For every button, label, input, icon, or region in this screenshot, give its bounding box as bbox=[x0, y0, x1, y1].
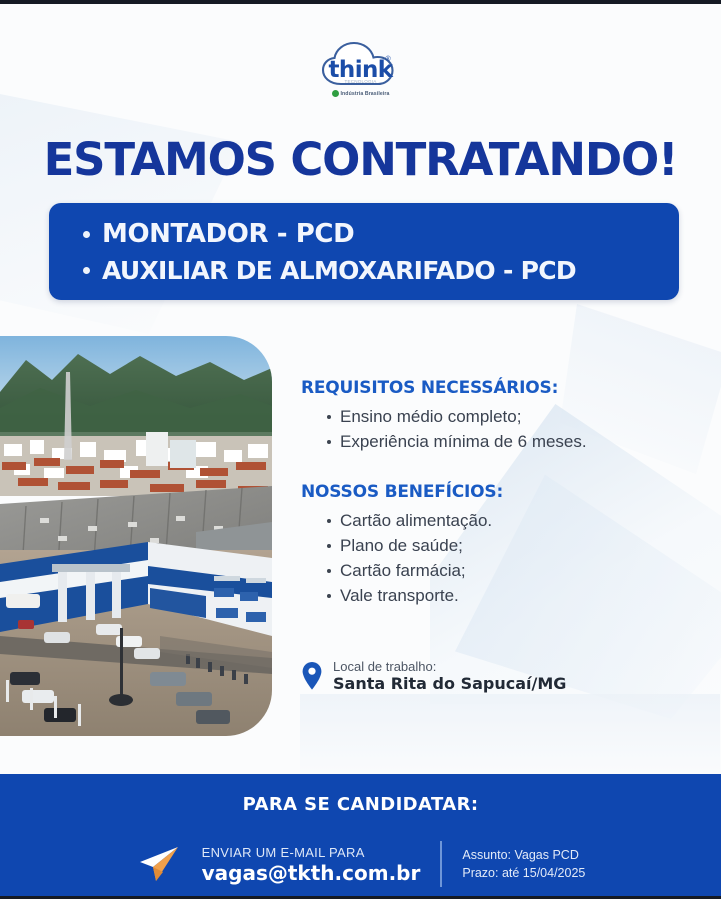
list-item-label: Experiência mínima de 6 meses. bbox=[340, 430, 587, 453]
made-in-brazil-label: Indústria Brasileira bbox=[341, 91, 390, 97]
registered-trademark-icon: ® bbox=[386, 56, 391, 63]
role-label: MONTADOR - PCD bbox=[102, 219, 354, 249]
list-item: Cartão alimentação. bbox=[301, 508, 701, 533]
made-in-brazil-badge: Indústria Brasileira bbox=[313, 90, 409, 97]
factory-aerial-photo bbox=[0, 336, 272, 736]
role-item: AUXILIAR DE ALMOXARIFADO - PCD bbox=[83, 252, 679, 288]
bullet-icon bbox=[327, 544, 331, 548]
bullet-icon bbox=[83, 267, 90, 274]
job-posting-poster: think ® TECNOLOGIA Indústria Brasileira … bbox=[0, 0, 721, 899]
list-item: Plano de saúde; bbox=[301, 533, 701, 558]
bullet-icon bbox=[327, 415, 331, 419]
bullet-icon bbox=[327, 594, 331, 598]
company-logo: think ® TECNOLOGIA Indústria Brasileira bbox=[0, 37, 721, 109]
section-title: NOSSOS BENEFÍCIOS: bbox=[301, 482, 701, 502]
requirements-list: Ensino médio completo; Experiência mínim… bbox=[301, 404, 701, 454]
list-item-label: Plano de saúde; bbox=[340, 534, 463, 557]
map-pin-icon bbox=[301, 661, 323, 691]
background-shape-bottom bbox=[300, 694, 720, 784]
list-item: Cartão farmácia; bbox=[301, 558, 701, 583]
green-circle-icon bbox=[332, 90, 339, 97]
email-address[interactable]: vagas@tkth.com.br bbox=[202, 861, 421, 885]
logo-tagline: TECNOLOGIA bbox=[313, 79, 409, 84]
work-location: Local de trabalho: Santa Rita do Sapucaí… bbox=[301, 659, 566, 693]
role-item: MONTADOR - PCD bbox=[83, 216, 679, 252]
benefits-section: NOSSOS BENEFÍCIOS: Cartão alimentação. P… bbox=[301, 482, 701, 608]
section-title: REQUISITOS NECESSÁRIOS: bbox=[301, 378, 701, 398]
bullet-icon bbox=[327, 519, 331, 523]
details-content: REQUISITOS NECESSÁRIOS: Ensino médio com… bbox=[301, 378, 701, 608]
paper-plane-icon bbox=[136, 843, 182, 885]
footer-divider bbox=[440, 841, 442, 887]
email-label: ENVIAR UM E-MAIL PARA bbox=[202, 844, 421, 861]
application-deadline: Prazo: até 15/04/2025 bbox=[462, 864, 585, 882]
footer-title: PARA SE CANDIDATAR: bbox=[0, 774, 721, 815]
roles-banner: MONTADOR - PCD AUXILIAR DE ALMOXARIFADO … bbox=[49, 203, 679, 300]
benefits-list: Cartão alimentação. Plano de saúde; Cart… bbox=[301, 508, 701, 608]
bullet-icon bbox=[83, 231, 90, 238]
footer-contact-row: ENVIAR UM E-MAIL PARA vagas@tkth.com.br … bbox=[0, 841, 721, 887]
location-label: Local de trabalho: bbox=[333, 659, 566, 674]
list-item-label: Cartão alimentação. bbox=[340, 509, 492, 532]
page-title: ESTAMOS CONTRATANDO! bbox=[0, 133, 721, 186]
list-item: Ensino médio completo; bbox=[301, 404, 701, 429]
application-meta: Assunto: Vagas PCD Prazo: até 15/04/2025 bbox=[462, 846, 585, 882]
list-item: Experiência mínima de 6 meses. bbox=[301, 429, 701, 454]
list-item-label: Ensino médio completo; bbox=[340, 405, 521, 428]
role-label: AUXILIAR DE ALMOXARIFADO - PCD bbox=[102, 256, 576, 285]
email-block[interactable]: ENVIAR UM E-MAIL PARA vagas@tkth.com.br bbox=[202, 844, 421, 885]
list-item: Vale transporte. bbox=[301, 583, 701, 608]
bullet-icon bbox=[327, 569, 331, 573]
apply-footer: PARA SE CANDIDATAR: ENVIAR UM E-MAIL PAR… bbox=[0, 774, 721, 899]
bullet-icon bbox=[327, 440, 331, 444]
email-subject: Assunto: Vagas PCD bbox=[462, 846, 585, 864]
section-spacer bbox=[301, 454, 701, 482]
requirements-section: REQUISITOS NECESSÁRIOS: Ensino médio com… bbox=[301, 378, 701, 454]
list-item-label: Vale transporte. bbox=[340, 584, 459, 607]
location-value: Santa Rita do Sapucaí/MG bbox=[333, 674, 566, 693]
list-item-label: Cartão farmácia; bbox=[340, 559, 466, 582]
